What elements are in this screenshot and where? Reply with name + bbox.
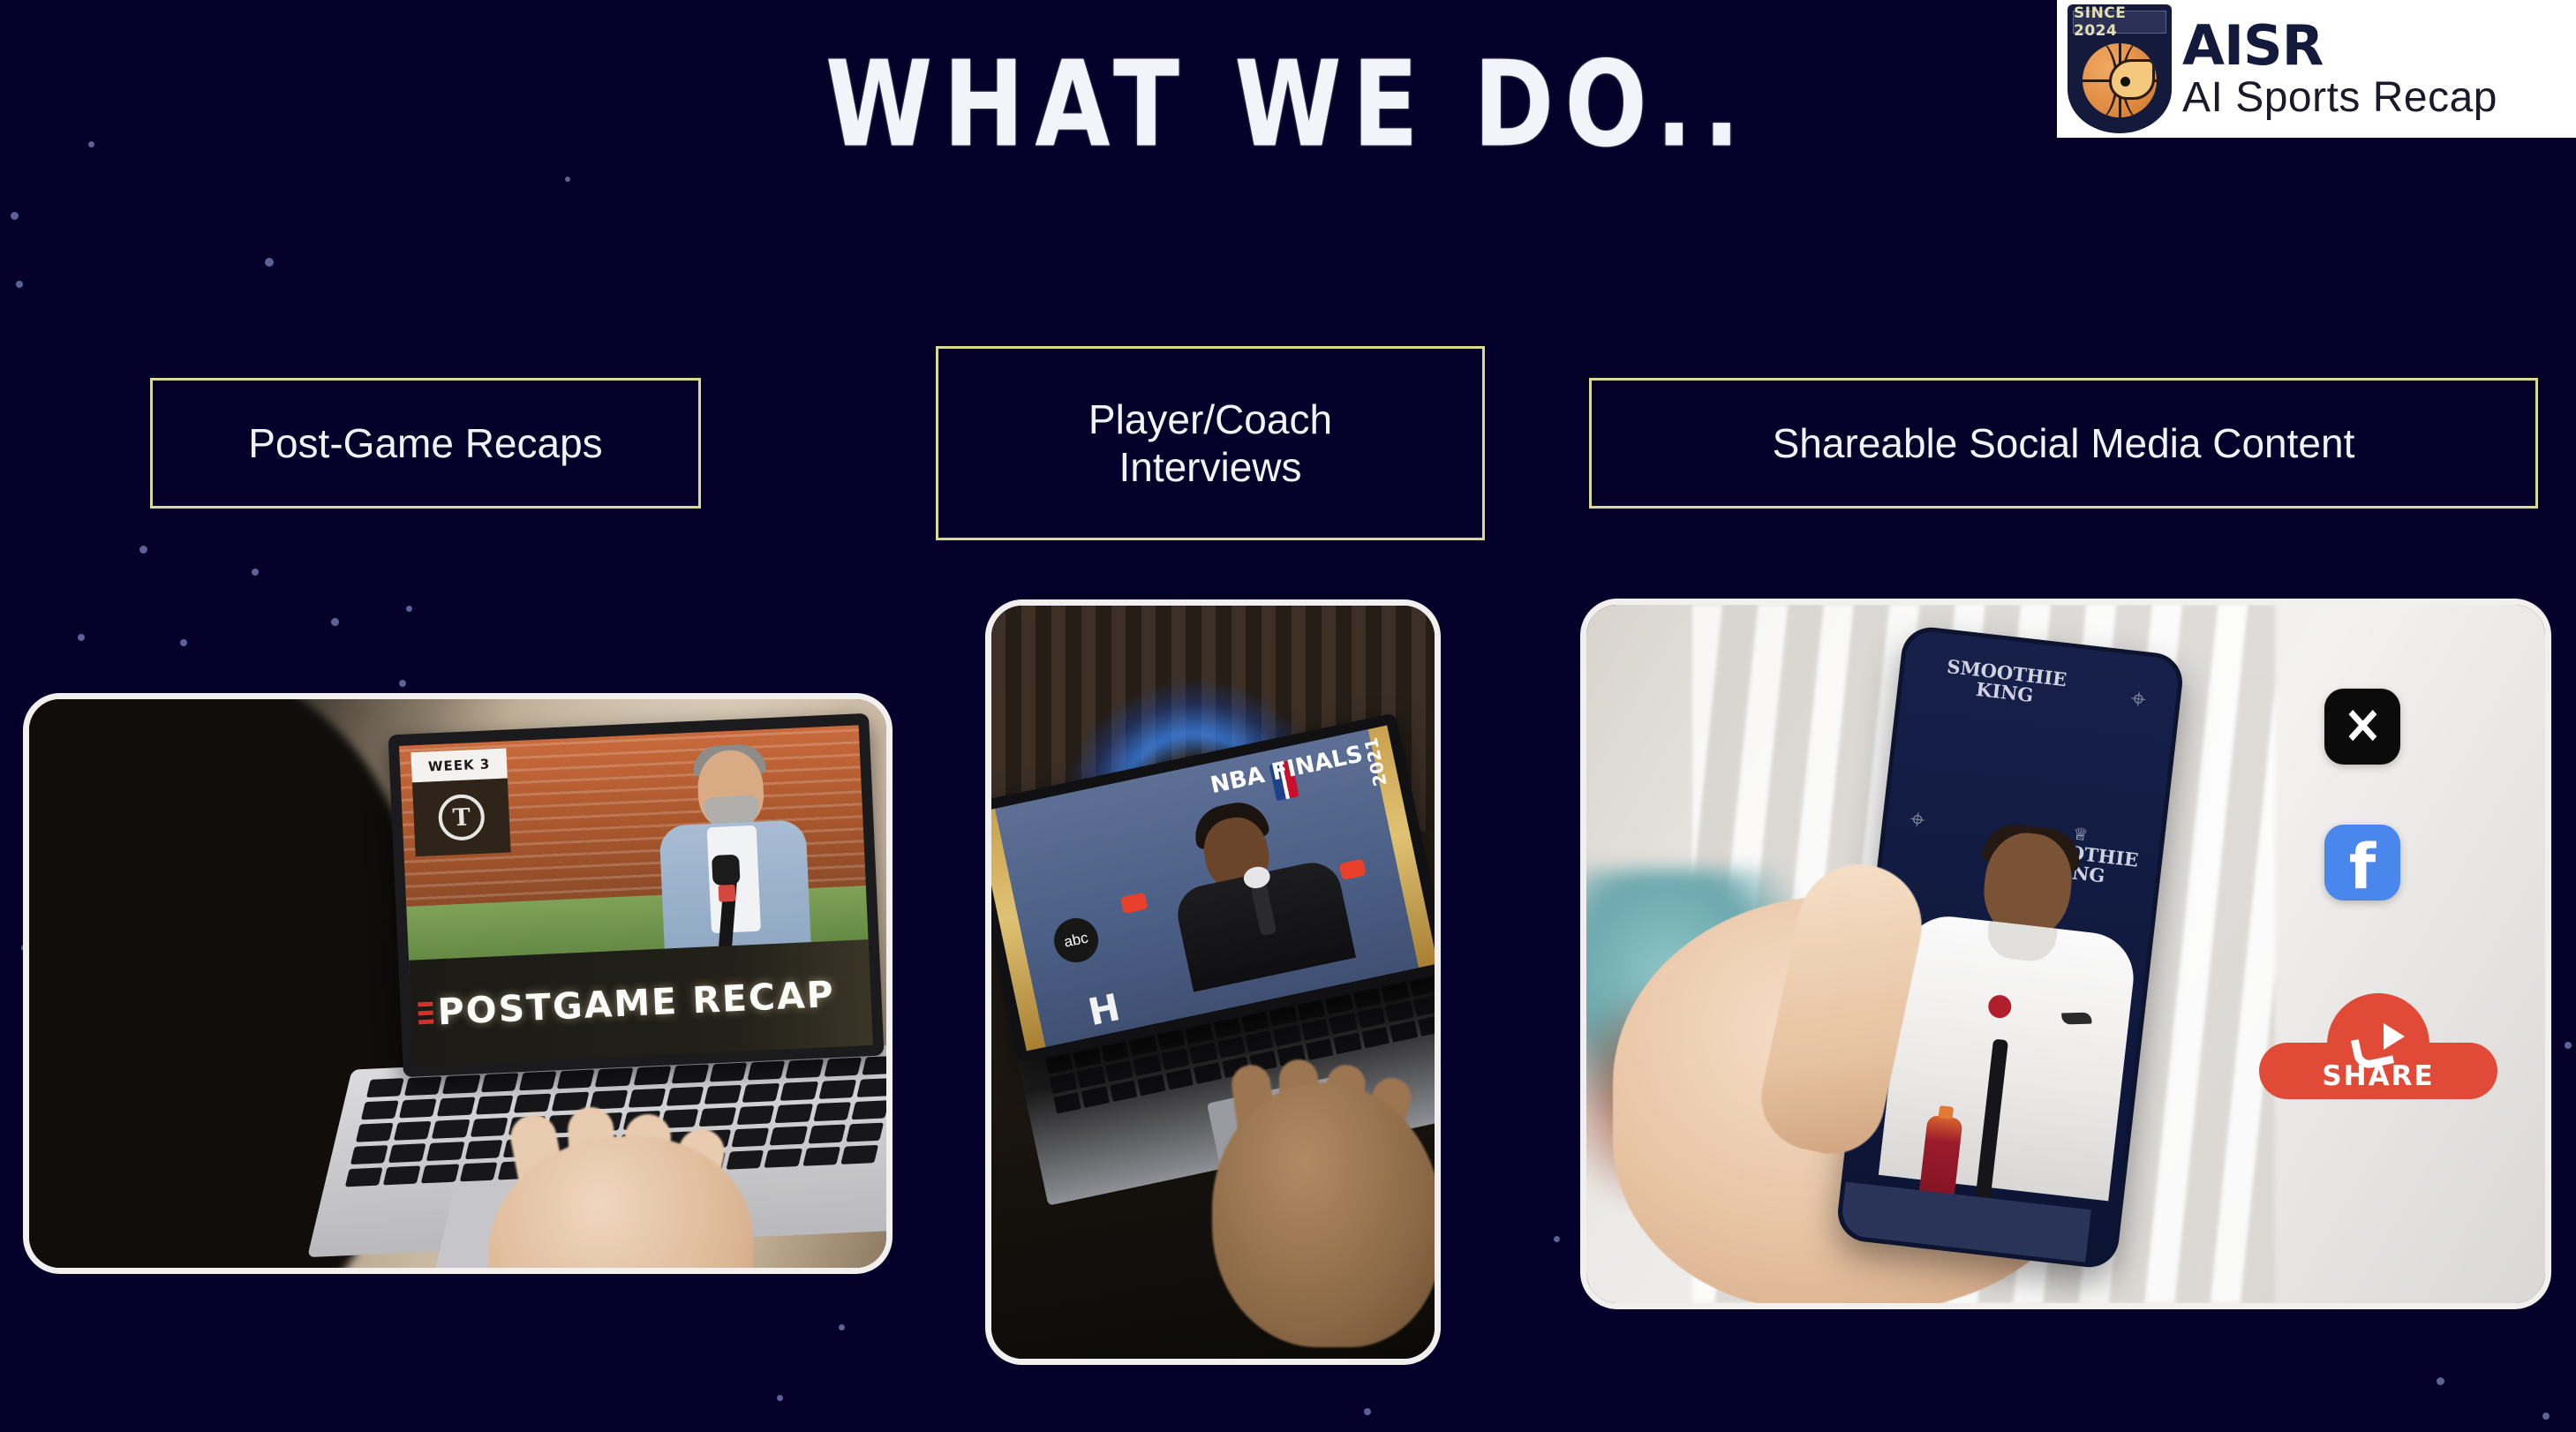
- facebook-icon[interactable]: f: [2324, 825, 2400, 901]
- user-hand: [1212, 1082, 1435, 1347]
- sponsor-wordmark: SMOOTHIE KING: [1944, 657, 2068, 709]
- facebook-glyph: f: [2349, 843, 2376, 892]
- feature-label-post-game-recaps: Post-Game Recaps: [150, 378, 701, 509]
- media-card-image: 2021 NBA FINALS abc H: [991, 606, 1435, 1359]
- feature-label-text: Shareable Social Media Content: [1773, 419, 2355, 467]
- abc-network-logo: abc: [1050, 914, 1102, 966]
- week-badge: WEEK 3: [411, 749, 507, 783]
- network-bars-icon: [409, 960, 440, 1066]
- team-logo-badge: T: [412, 778, 511, 856]
- x-twitter-icon[interactable]: ✕: [2324, 689, 2400, 765]
- team-mark-icon: T: [438, 794, 486, 841]
- player-figure: [1161, 785, 1352, 982]
- broadcast-lower-third: POSTGAME RECAP: [409, 939, 873, 1066]
- feature-label-line-1: Player/Coach: [1088, 396, 1332, 442]
- feature-label-text: Post-Game Recaps: [248, 419, 602, 467]
- media-card-shareable-social-media-content: SMOOTHIE KING ♕ SMOOTHIE KING ⌖ ⌖: [1580, 599, 2551, 1309]
- page-title: WHAT WE DO..: [0, 35, 2576, 173]
- feature-label-line-2: Interviews: [1119, 444, 1301, 490]
- microphone-head-icon: [712, 855, 741, 886]
- reporter-figure: [645, 747, 819, 966]
- media-card-image: WEEK 3 T: [29, 699, 886, 1268]
- slide-canvas: SINCE 2024 AISR AI Sports Recap WHAT WE …: [0, 0, 2576, 1432]
- share-button-label: SHARE: [2259, 1060, 2497, 1092]
- media-card-player-coach-interviews: 2021 NBA FINALS abc H: [985, 599, 1441, 1365]
- youtube-badge-icon: [1120, 893, 1148, 914]
- broadcast-banner-text: POSTGAME RECAP: [437, 973, 836, 1033]
- feature-label-player-coach-interviews: Player/Coach Interviews: [936, 346, 1485, 540]
- microphone-flag-icon: [719, 885, 736, 902]
- media-card-image: SMOOTHIE KING ♕ SMOOTHIE KING ⌖ ⌖: [1586, 605, 2545, 1303]
- youtube-badge-icon: [1339, 858, 1367, 879]
- since-label: SINCE 2024: [2074, 4, 2165, 40]
- share-button[interactable]: SHARE: [2259, 1043, 2497, 1099]
- media-card-post-game-recaps: WEEK 3 T: [23, 693, 893, 1274]
- feature-label-text: Player/Coach Interviews: [1088, 396, 1332, 492]
- laptop-screen: WEEK 3 T: [399, 725, 873, 1066]
- laptop-lid: WEEK 3 T: [388, 713, 884, 1077]
- brand-swoosh-icon: [2061, 1013, 2091, 1025]
- feature-label-shareable-social-media-content: Shareable Social Media Content: [1589, 378, 2538, 509]
- x-glyph: ✕: [2344, 702, 2381, 751]
- team-logo-icon: ⌖: [2129, 683, 2148, 716]
- sponsor-logo: H: [1085, 989, 1123, 1031]
- since-banner: SINCE 2024: [2073, 11, 2166, 34]
